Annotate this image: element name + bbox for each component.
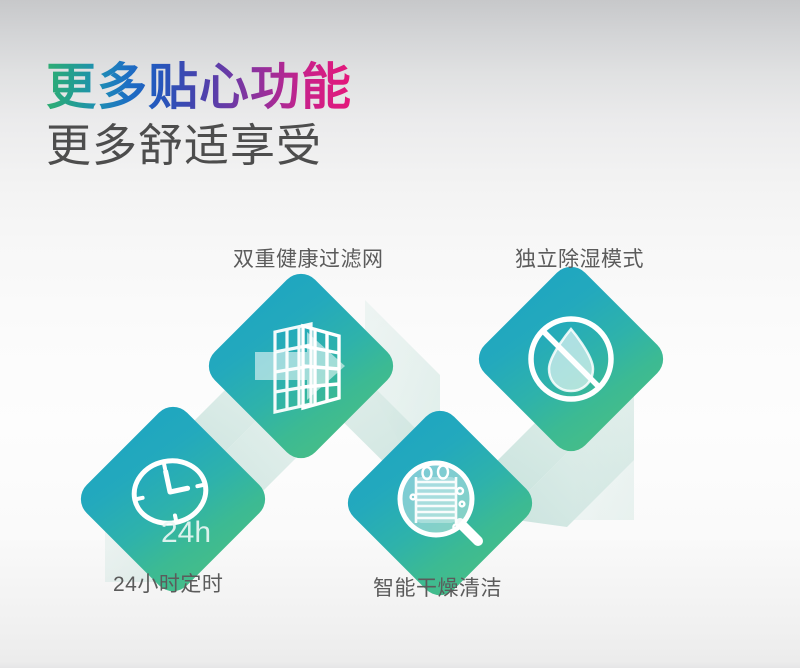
caption-dual-filter: 双重健康过滤网 (233, 247, 384, 273)
feature-tile-dual-filter[interactable] (230, 295, 372, 437)
coil-magnifier-icon (369, 432, 511, 574)
caption-timer: 24小时定时 (113, 572, 223, 598)
feature-tile-timer[interactable]: 24h (102, 428, 244, 570)
timer-badge-text: 24h (161, 516, 211, 549)
feature-tile-dehumidify[interactable] (500, 288, 642, 430)
caption-smart-dry-clean: 智能干燥清洁 (373, 576, 502, 602)
feature-tile-smart-dry-clean[interactable] (369, 432, 511, 574)
caption-dehumidify: 独立除湿模式 (515, 247, 644, 273)
promo-banner: 更多贴心功能 更多舒适享受 (0, 0, 800, 668)
clock-24h-icon: 24h (102, 428, 244, 570)
no-water-drop-icon (500, 288, 642, 430)
filter-mesh-arrow-icon (230, 295, 372, 437)
